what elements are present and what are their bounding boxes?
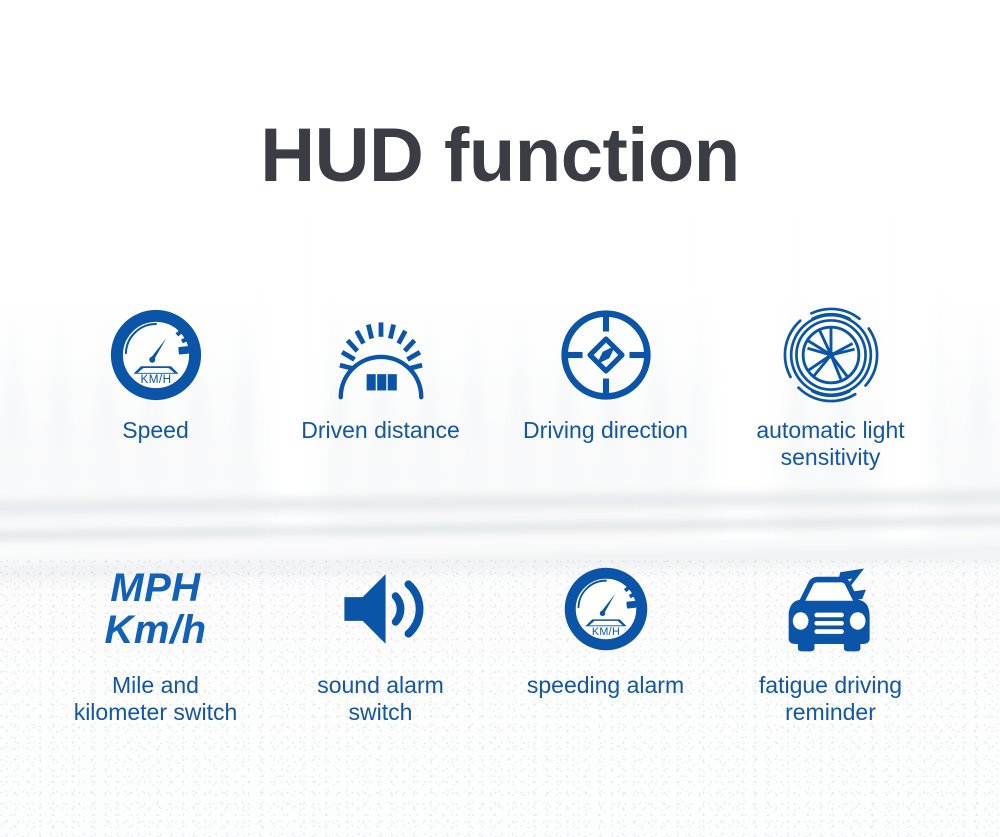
- unit-icon-line-mph: MPH: [105, 567, 207, 609]
- feature-label: Driving direction: [523, 417, 688, 444]
- feature-label: Mile and kilometer switch: [74, 672, 238, 725]
- odometer-icon: [333, 305, 429, 405]
- unit-switch-text-icon: MPH Km/h: [105, 560, 207, 658]
- compass-icon: [559, 305, 653, 405]
- feature-sound-alarm-switch[interactable]: sound alarm switch: [268, 560, 493, 725]
- aperture-light-sensor-icon: [783, 305, 879, 405]
- feature-speeding-alarm[interactable]: KM/H speeding alarm: [493, 560, 718, 725]
- page-title: HUD function: [0, 118, 1000, 194]
- feature-row-1: KM/H Speed: [0, 305, 1000, 470]
- feature-fatigue-driving-reminder[interactable]: fatigue driving reminder: [718, 560, 943, 725]
- sleepy-car-icon: [783, 560, 879, 658]
- speaker-volume-icon: [335, 560, 427, 658]
- svg-text:KM/H: KM/H: [591, 626, 619, 638]
- speedometer-icon: KM/H: [563, 560, 649, 658]
- feature-driving-direction[interactable]: Driving direction: [493, 305, 718, 470]
- feature-driven-distance[interactable]: Driven distance: [268, 305, 493, 470]
- feature-automatic-light-sensitivity[interactable]: automatic light sensitivity: [718, 305, 943, 470]
- feature-label: fatigue driving reminder: [759, 672, 902, 725]
- feature-label: speeding alarm: [527, 672, 684, 699]
- feature-mile-kilometer-switch[interactable]: MPH Km/h Mile and kilometer switch: [43, 560, 268, 725]
- feature-label: Driven distance: [301, 417, 460, 444]
- feature-label: sound alarm switch: [317, 672, 444, 725]
- svg-text:KM/H: KM/H: [140, 373, 171, 386]
- feature-label: Speed: [122, 417, 189, 444]
- speedometer-icon: KM/H: [109, 305, 203, 405]
- feature-speed[interactable]: KM/H Speed: [43, 305, 268, 470]
- feature-row-2: MPH Km/h Mile and kilometer switch sound…: [0, 560, 1000, 725]
- hud-function-infographic: HUD function: [0, 0, 1000, 837]
- unit-icon-line-kmh: Km/h: [105, 609, 207, 651]
- feature-label: automatic light sensitivity: [756, 417, 904, 470]
